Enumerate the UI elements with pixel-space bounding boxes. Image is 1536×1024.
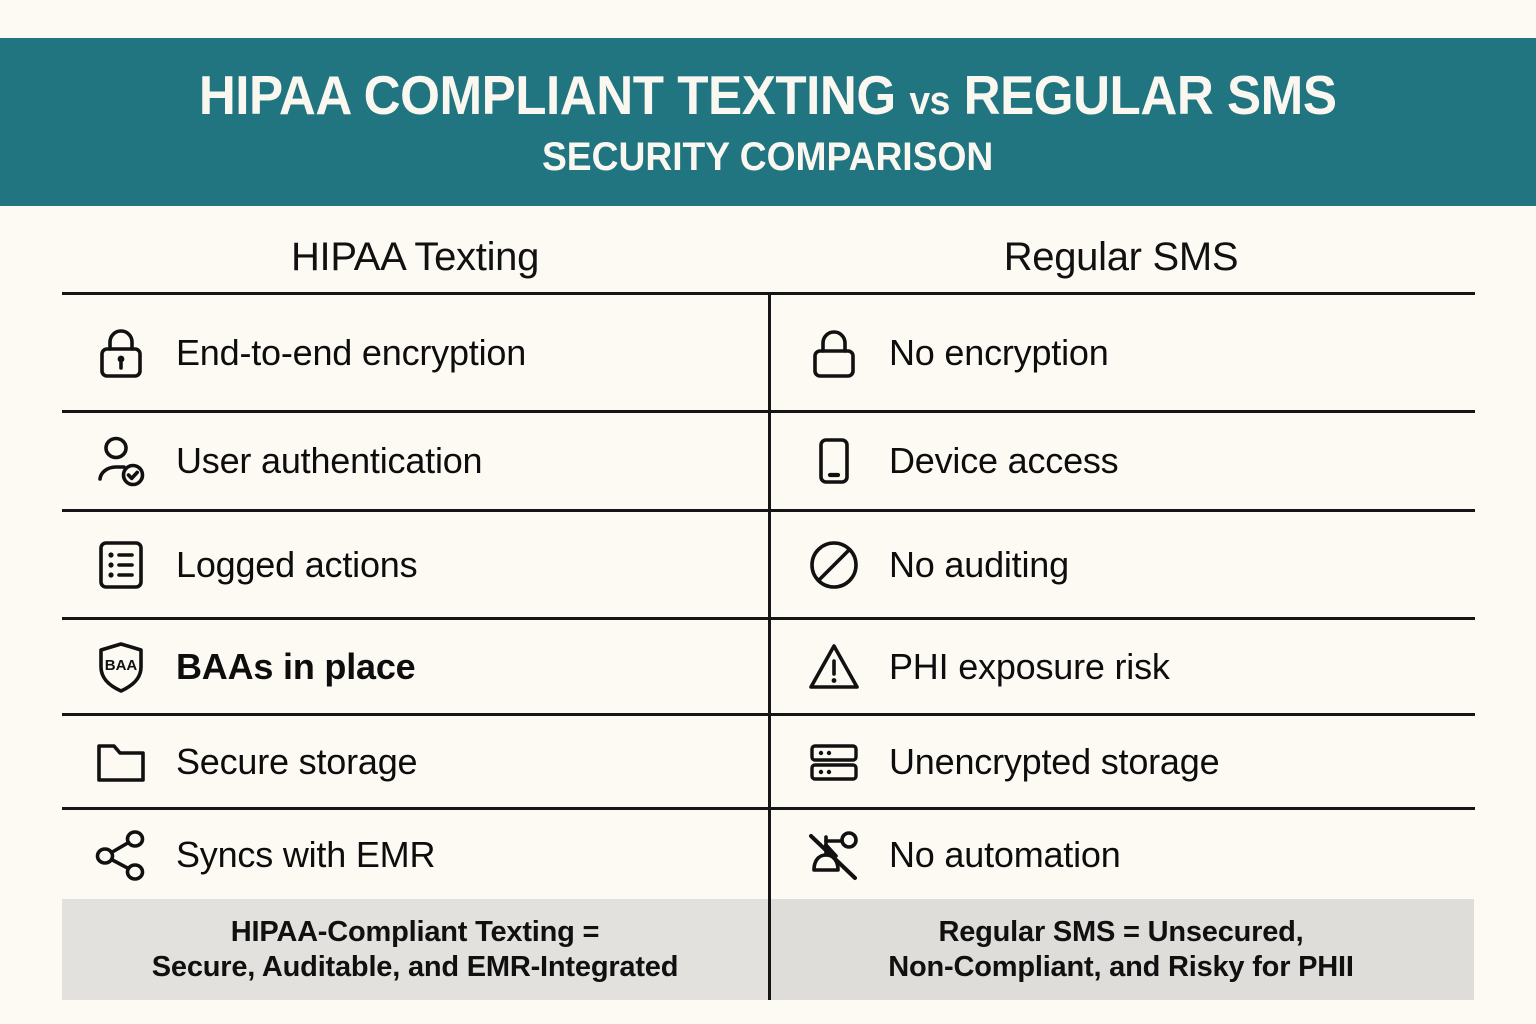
summary-line-2: Secure, Auditable, and EMR-Integrated — [152, 950, 679, 984]
row-label: Logged actions — [176, 544, 417, 586]
column-header-sms: Regular SMS — [768, 222, 1474, 292]
summary-line-1: HIPAA-Compliant Texting = — [231, 915, 600, 949]
row-label: End-to-end encryption — [176, 332, 526, 374]
shield-baa-text: BAA — [105, 657, 138, 674]
shield-baa-icon: BAA — [90, 636, 152, 698]
summary-line-2: Non-Compliant, and Risky for PHII — [888, 950, 1354, 984]
column-header-hipaa: HIPAA Texting — [62, 222, 768, 292]
page-title-part1: HIPAA COMPLIANT TEXTING — [199, 64, 896, 126]
row-label: Secure storage — [176, 741, 417, 783]
lock-open-icon — [803, 322, 865, 384]
cell-sms: No auditing — [768, 512, 1474, 617]
summary-line-1: Regular SMS = Unsecured, — [938, 915, 1303, 949]
cell-sms: PHI exposure risk — [768, 620, 1474, 713]
warning-triangle-icon — [803, 636, 865, 698]
summary-box-sms: Regular SMS = Unsecured, Non-Compliant, … — [768, 899, 1474, 1000]
page-title: HIPAA COMPLIANT TEXTING vs REGULAR SMS — [199, 68, 1337, 123]
row-label: Unencrypted storage — [889, 741, 1219, 783]
list-log-icon — [90, 534, 152, 596]
cell-hipaa: Secure storage — [62, 716, 768, 807]
table-row: BAA BAAs in place PHI exposure risk — [62, 617, 1475, 713]
row-label: Device access — [889, 440, 1118, 482]
lock-closed-icon — [90, 322, 152, 384]
column-headers: HIPAA Texting Regular SMS — [62, 222, 1475, 292]
page-title-vs: vs — [910, 79, 950, 123]
title-banner: HIPAA COMPLIANT TEXTING vs REGULAR SMS S… — [0, 38, 1536, 206]
row-label: No encryption — [889, 332, 1109, 374]
automation-disabled-icon — [803, 824, 865, 886]
page-title-part2: REGULAR SMS — [964, 64, 1337, 126]
share-nodes-icon — [90, 824, 152, 886]
comparison-table: HIPAA Texting Regular SMS End-to-end enc… — [62, 222, 1475, 899]
cell-sms: Unencrypted storage — [768, 716, 1474, 807]
cell-sms: No encryption — [768, 295, 1474, 410]
row-label: No auditing — [889, 544, 1069, 586]
user-verified-icon — [90, 430, 152, 492]
server-stack-icon — [803, 731, 865, 793]
row-label: PHI exposure risk — [889, 646, 1170, 688]
page-subtitle: SECURITY COMPARISON — [542, 137, 993, 177]
mobile-phone-icon — [803, 430, 865, 492]
summary-box-hipaa: HIPAA-Compliant Texting = Secure, Audita… — [62, 899, 768, 1000]
summary-footer: HIPAA-Compliant Texting = Secure, Audita… — [62, 899, 1475, 1000]
table-row: Syncs with EMR No automation — [62, 807, 1475, 899]
cell-hipaa: Logged actions — [62, 512, 768, 617]
row-label: Syncs with EMR — [176, 834, 435, 876]
cell-sms: Device access — [768, 413, 1474, 509]
prohibited-icon — [803, 534, 865, 596]
cell-hipaa: End-to-end encryption — [62, 295, 768, 410]
table-row: User authentication Device access — [62, 410, 1475, 509]
table-row: End-to-end encryption No encryption — [62, 292, 1475, 410]
row-label: User authentication — [176, 440, 482, 482]
folder-icon — [90, 731, 152, 793]
table-row: Secure storage Unencrypted storage — [62, 713, 1475, 807]
cell-sms: No automation — [768, 810, 1474, 899]
cell-hipaa: Syncs with EMR — [62, 810, 768, 899]
cell-hipaa: BAA BAAs in place — [62, 620, 768, 713]
row-label: No automation — [889, 834, 1121, 876]
cell-hipaa: User authentication — [62, 413, 768, 509]
table-body: End-to-end encryption No encryption — [62, 292, 1475, 899]
row-label: BAAs in place — [176, 646, 415, 688]
table-row: Logged actions No auditing — [62, 509, 1475, 617]
